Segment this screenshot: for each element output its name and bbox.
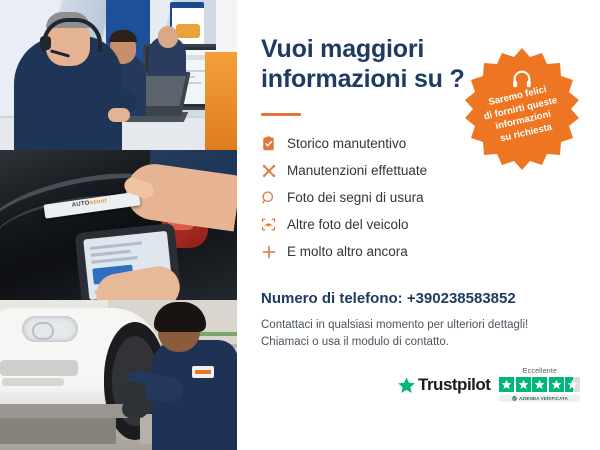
contact-note-line-2: Chiamaci o usa il modulo di contatto. xyxy=(261,334,561,351)
ruler-brand-text: AUTOscout xyxy=(71,198,107,209)
car-headlight xyxy=(22,316,78,342)
feature-item-wear-photos: Foto dei segni di usura xyxy=(261,184,491,211)
car-lower-grille xyxy=(2,378,64,386)
car-grille xyxy=(0,360,78,376)
feature-item-much-more: E molto altro ancora xyxy=(261,238,491,265)
feature-list: Storico manutentivo Manutenzi xyxy=(261,130,491,265)
star-icon xyxy=(397,376,416,395)
workshop-green-tool xyxy=(196,332,237,336)
title-underline-divider xyxy=(261,113,301,116)
trustpilot-rating: Eccellente xyxy=(499,368,580,402)
trustpilot-logo: Trustpilot xyxy=(397,375,490,395)
contact-note: Contattaci in qualsiasi momento per ulte… xyxy=(261,317,561,351)
trustpilot-brand-text: Trustpilot xyxy=(418,375,490,395)
window-light xyxy=(216,0,237,56)
photo-column: AUTOscout xyxy=(0,0,237,450)
photo-call-center-agents-with-headsets xyxy=(0,0,237,150)
headset-earcup xyxy=(40,36,51,50)
background-worker-2-head xyxy=(158,26,178,48)
star-icon xyxy=(516,377,531,392)
mechanic-glove-lower xyxy=(122,400,148,418)
verified-company-badge: AZIENDA VERIFICATA xyxy=(499,395,580,402)
feature-label: E molto altro ancora xyxy=(287,244,408,259)
trustpilot-widget[interactable]: Trustpilot Eccellente xyxy=(397,368,577,402)
promo-page: AUTOscout xyxy=(0,0,600,450)
star-icon xyxy=(532,377,547,392)
wrench-cross-icon xyxy=(261,163,287,179)
feature-item-maintenance-done: Manutenzioni effettuate xyxy=(261,157,491,184)
feature-label: Foto dei segni di usura xyxy=(287,190,424,205)
plus-icon xyxy=(261,244,287,260)
photo-vehicle-damage-inspection-with-tablet: AUTOscout xyxy=(0,150,237,300)
trustpilot-rating-label: Eccellente xyxy=(499,368,580,375)
page-title: Vuoi maggiori informazioni su ? xyxy=(261,34,471,94)
feature-item-maintenance-history: Storico manutentivo xyxy=(261,130,491,157)
photo-scan-icon xyxy=(261,217,287,232)
verified-company-text: AZIENDA VERIFICATA xyxy=(519,396,568,401)
uniform-logo xyxy=(192,366,214,378)
star-icon xyxy=(499,377,514,392)
star-icon-half xyxy=(565,377,580,392)
photo-mechanic-working-on-wheel xyxy=(0,300,237,450)
foreground-agent-hand xyxy=(108,108,130,122)
feature-label: Altre foto del veicolo xyxy=(287,217,409,232)
content-panel: Vuoi maggiori informazioni su ? Saremo f… xyxy=(237,0,600,450)
clipboard-check-icon xyxy=(261,136,287,151)
phone-number-label[interactable]: Numero di telefono: +390238583852 xyxy=(261,290,551,307)
feature-label: Storico manutentivo xyxy=(287,136,406,151)
mechanic-glove-upper xyxy=(118,382,146,402)
feature-label: Manutenzioni effettuate xyxy=(287,163,427,178)
star-icon xyxy=(549,377,564,392)
page-title-line-1: Vuoi maggiori xyxy=(261,34,471,64)
orange-equipment xyxy=(205,52,237,150)
magnifier-icon xyxy=(261,190,287,205)
contact-note-line-1: Contattaci in qualsiasi momento per ulte… xyxy=(261,317,561,334)
check-circle-icon xyxy=(512,396,517,401)
trustpilot-stars xyxy=(499,377,580,392)
feature-item-more-photos: Altre foto del veicolo xyxy=(261,211,491,238)
car-lift-arm xyxy=(0,404,130,418)
page-title-line-2: informazioni su ? xyxy=(261,64,471,94)
car-lift-base xyxy=(0,418,116,444)
